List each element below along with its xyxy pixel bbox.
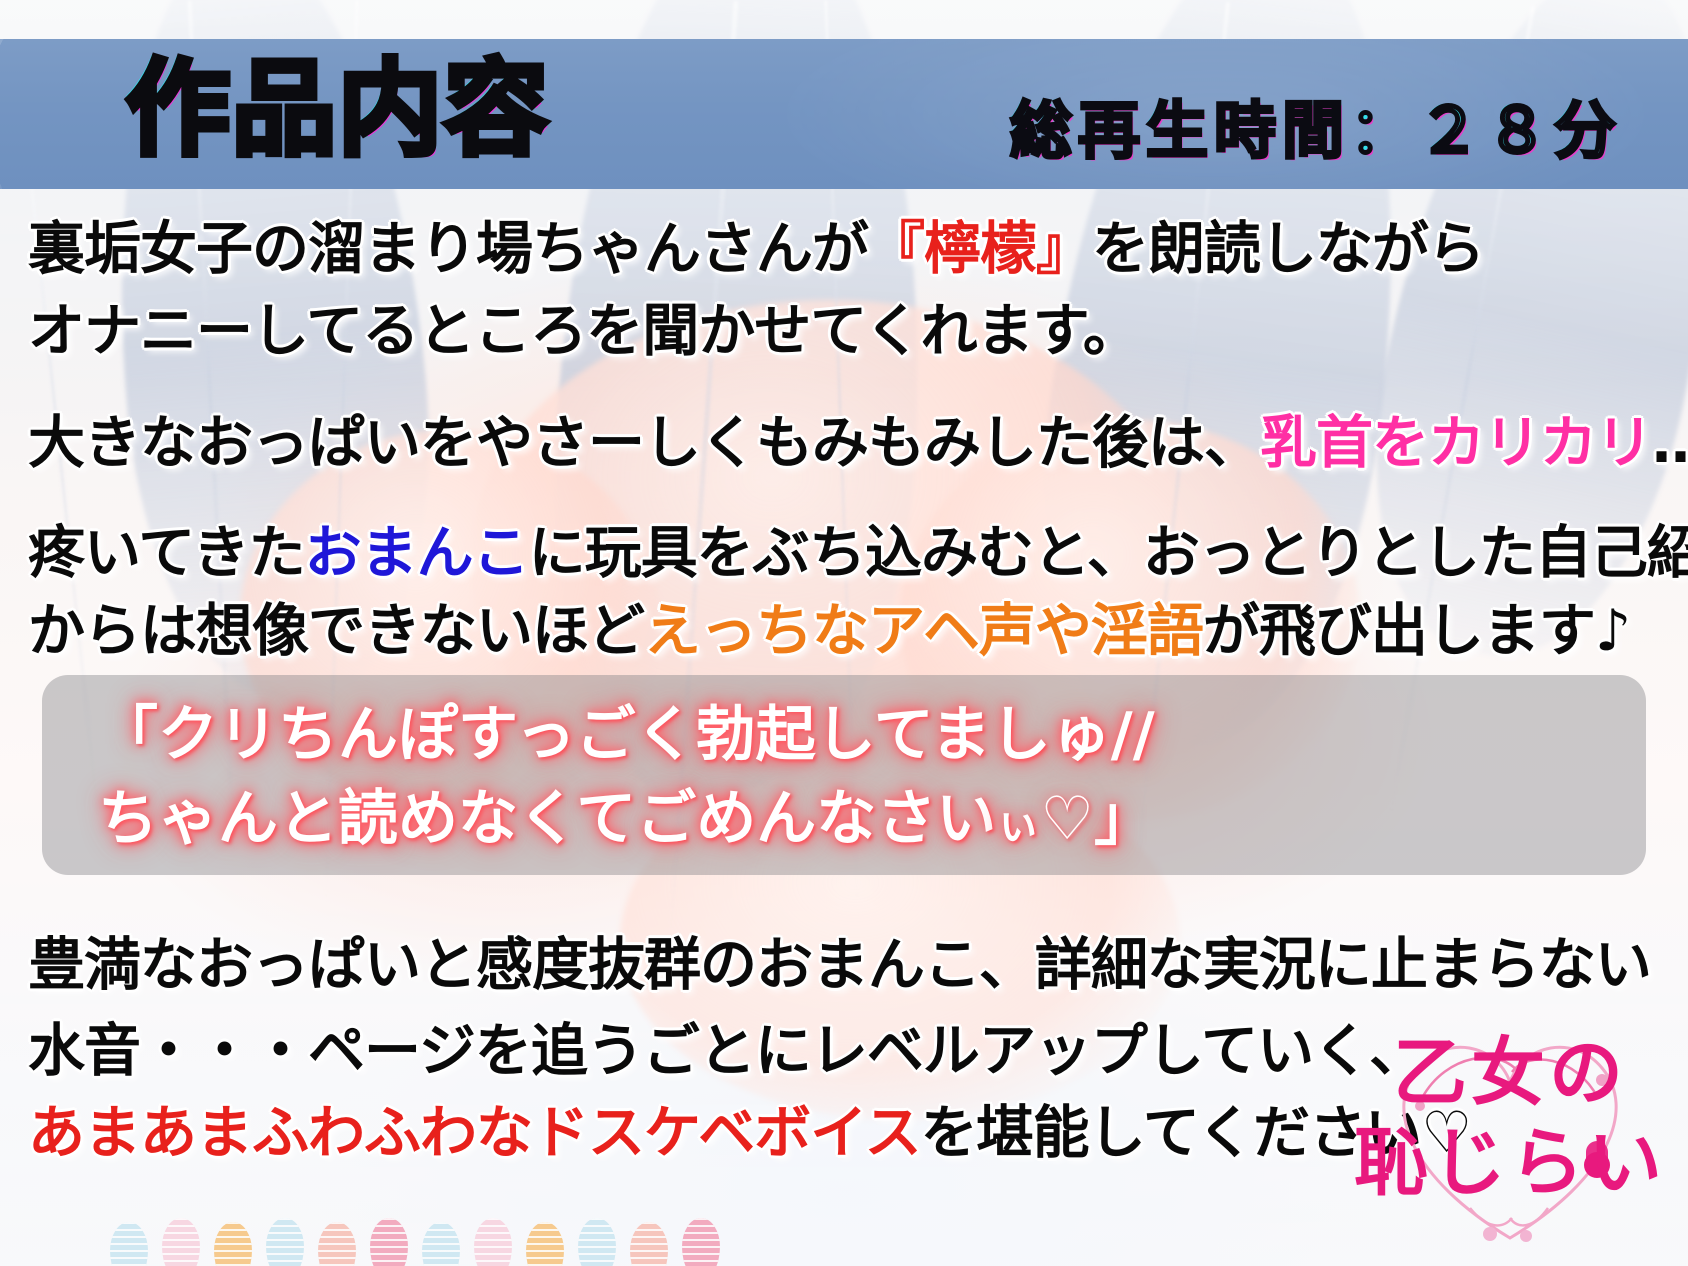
quote-l2-main: ちゃんと読めなくてごめんなさい <box>98 784 996 854</box>
quote-l2-small: ぃ <box>996 799 1040 850</box>
breasts-seg-0: 大きなおっぱいをやさーしくもみもみした後は、 <box>28 410 1260 476</box>
intro-line-2: オナニーしてるところを聞かせてくれます。 <box>28 303 1139 360</box>
brand-logo: 乙女の 恥じらい <box>1350 1002 1670 1262</box>
toy-line-2: からは想像できないほどえっちなアヘ声や淫語が飛び出します♪ <box>28 603 1630 660</box>
logo-line-1: 乙女の <box>1350 1036 1670 1110</box>
breasts-line-1: 大きなおっぱいをやさーしくもみもみした後は、乳首をカリカリ…♡ <box>28 415 1688 472</box>
page-title: 作品内容 <box>126 57 550 161</box>
breasts-seg-2: …♡ <box>1652 410 1688 476</box>
outro-l2-seg-0: 水音・・・ページを追うごとにレベルアップしていく、 <box>28 1018 1425 1084</box>
outro-line-3: あまあまふわふわなドスケベボイスを堪能してください♡ <box>28 1105 1471 1162</box>
toy-l2-seg-2: が飛び出します♪ <box>1203 598 1630 664</box>
outro-line-2: 水音・・・ページを追うごとにレベルアップしていく、 <box>28 1023 1425 1080</box>
toy-l1-seg-0: 疼いてきた <box>28 520 305 586</box>
quote-panel: 「クリちんぽすっごく勃起してましゅ// ちゃんと読めなくてごめんなさいぃ♡」 <box>42 675 1646 875</box>
toy-l2-voice-highlight: えっちなアヘ声や淫語 <box>644 598 1203 664</box>
intro-l1-seg-2: を朗読しながら <box>1092 216 1484 282</box>
quote-line-2: ちゃんと読めなくてごめんなさいぃ♡」 <box>98 789 1154 849</box>
logo-line-2: 恥じらい <box>1350 1126 1670 1200</box>
quote-l2-tail: ♡」 <box>1040 784 1154 854</box>
header-band: 作品内容 総再生時間：２８分 <box>0 39 1688 189</box>
intro-l1-title-highlight: 『檸檬』 <box>868 216 1092 282</box>
outro-voice-highlight: あまあまふわふわなドスケベボイス <box>28 1100 921 1166</box>
intro-line-1: 裏垢女子の溜まり場ちゃんさんが『檸檬』を朗読しながら <box>28 221 1484 278</box>
toy-line-1: 疼いてきたおまんこに玩具をぶち込みむと、おっとりとした自己紹介 <box>28 525 1688 582</box>
quote-line-1: 「クリちんぽすっごく勃起してましゅ// <box>98 705 1155 765</box>
toy-l1-pussy-highlight: おまんこ <box>305 520 529 586</box>
toy-l1-seg-2: に玩具をぶち込みむと、おっとりとした自己紹介 <box>529 520 1688 586</box>
breasts-nipple-highlight: 乳首をカリカリ <box>1260 410 1652 476</box>
outro-line-1: 豊満なおっぱいと感度抜群のおまんこ、詳細な実況に止まらない <box>28 937 1651 994</box>
toy-l2-seg-0: からは想像できないほど <box>28 598 644 664</box>
intro-l1-seg-0: 裏垢女子の溜まり場ちゃんさんが <box>28 216 868 282</box>
total-playtime-label: 総再生時間：２８分 <box>1010 100 1622 162</box>
outro-l1-seg-0: 豊満なおっぱいと感度抜群のおまんこ、詳細な実況に止まらない <box>28 932 1651 998</box>
intro-l2-seg-0: オナニーしてるところを聞かせてくれます。 <box>28 298 1139 364</box>
